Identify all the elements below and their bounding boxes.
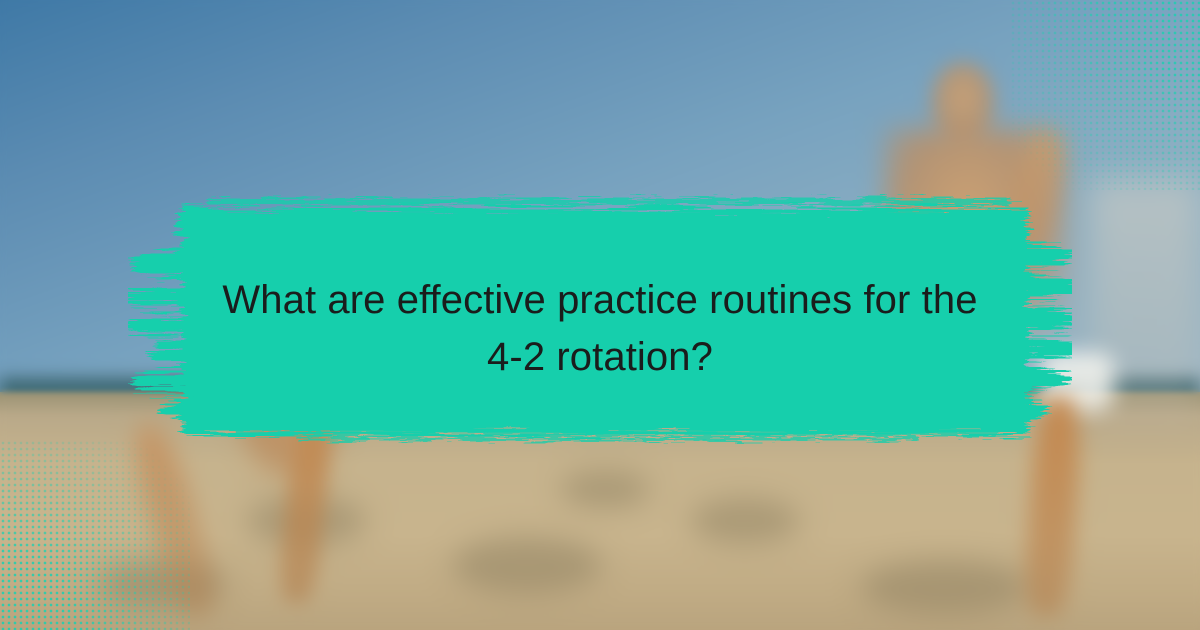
question-card: What are effective practice routines for… — [0, 0, 1200, 630]
sand-blotch — [560, 470, 650, 508]
brush-streak-top — [208, 198, 1008, 215]
page-title: What are effective practice routines for… — [150, 272, 1050, 386]
sand-blotch — [690, 498, 800, 544]
sand-blotch — [860, 560, 1030, 614]
sand-blotch — [452, 536, 602, 594]
brush-streak-bottom — [238, 429, 998, 441]
